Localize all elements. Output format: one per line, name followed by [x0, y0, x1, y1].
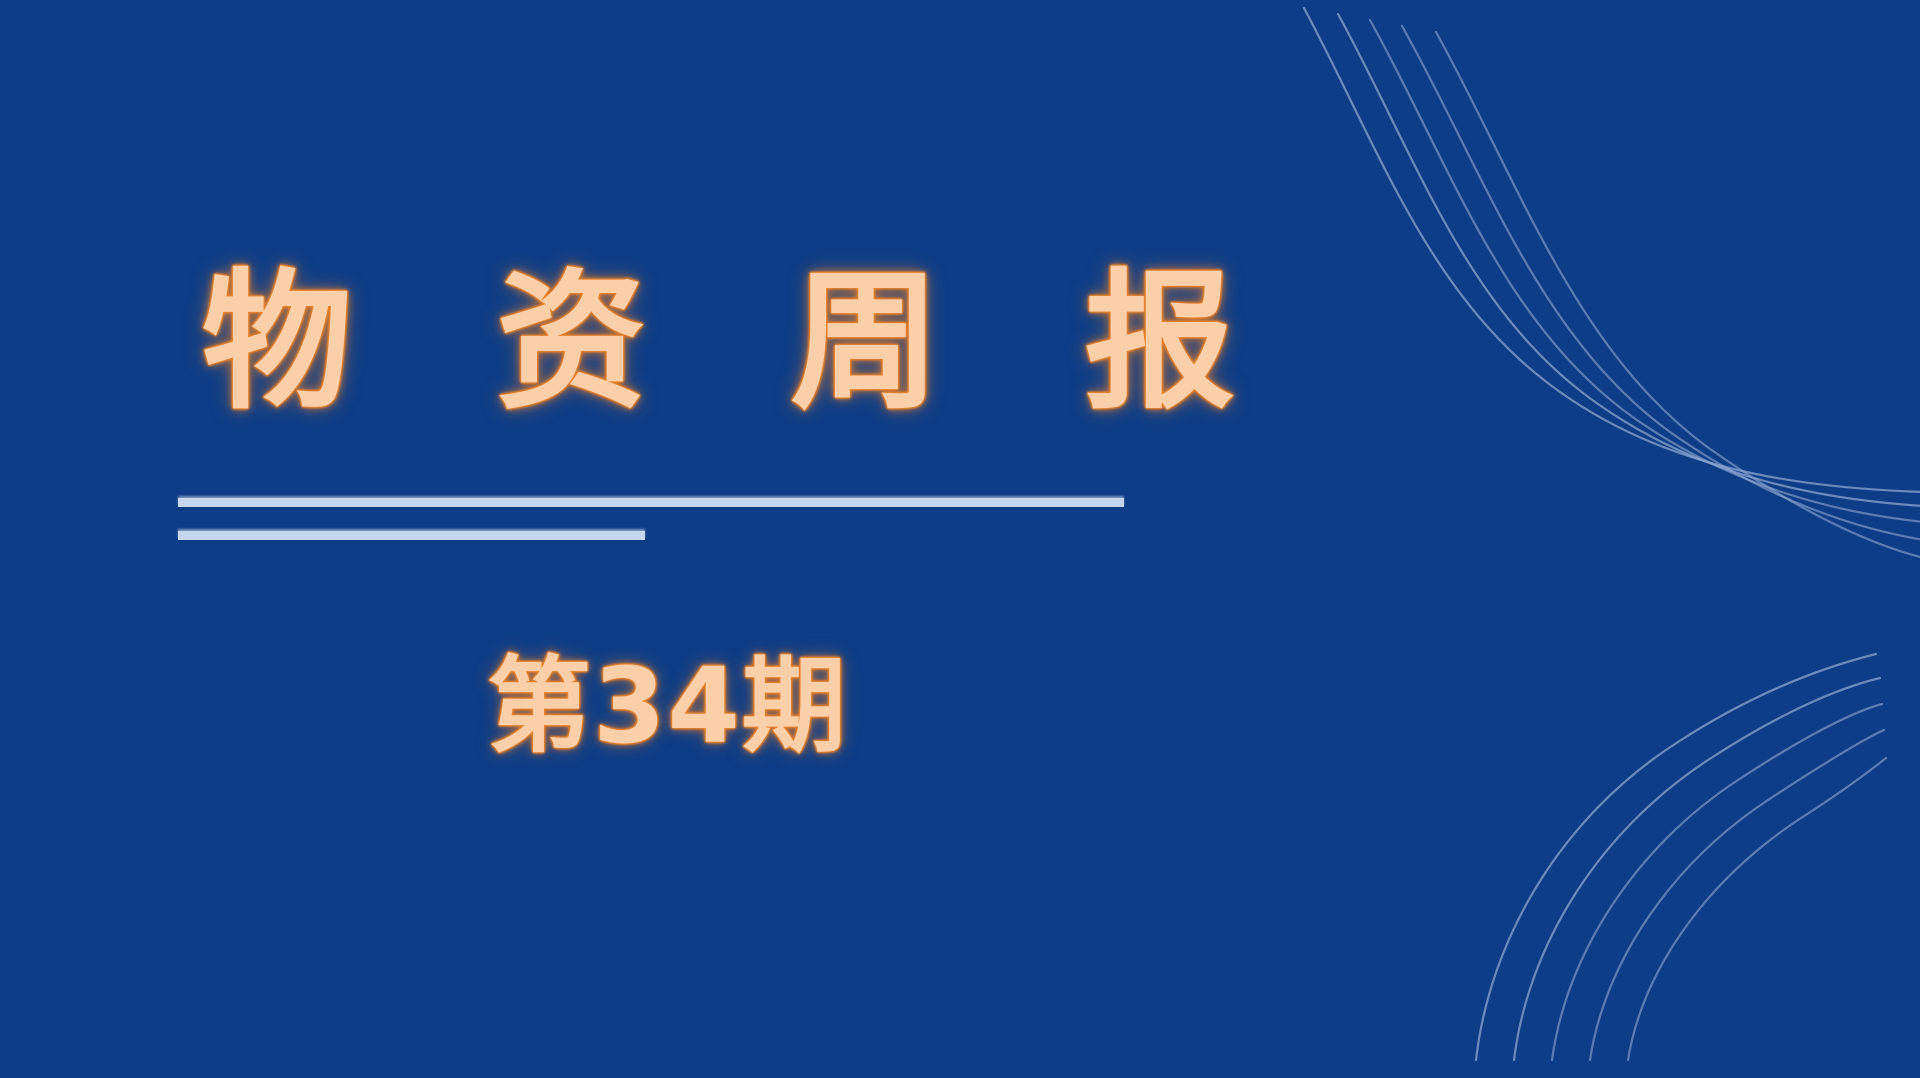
flowline-group-bottom-right — [1300, 608, 1920, 1078]
flowline-br-4 — [1590, 730, 1884, 1060]
flowline-br-5 — [1628, 758, 1886, 1060]
page-title: 物 资 周 报 — [178, 268, 1378, 418]
title-block: 物 资 周 报 — [178, 268, 1378, 418]
flowline-tr-4 — [1402, 26, 1920, 540]
issue-number-subtitle: 第34期 — [0, 648, 1335, 764]
presentation-cover-slide: 物 资 周 报 第34期 — [0, 0, 1920, 1078]
title-underline-long — [178, 498, 1124, 507]
flowline-br-3 — [1552, 704, 1882, 1060]
flowline-br-2 — [1514, 678, 1880, 1060]
flowline-tr-5 — [1436, 32, 1920, 558]
flowline-tr-2 — [1338, 14, 1920, 506]
flowline-tr-1 — [1304, 8, 1920, 492]
flowline-br-1 — [1476, 654, 1876, 1060]
decorative-flowlines-bottom-right — [1300, 608, 1920, 1078]
title-underline-short — [178, 531, 645, 540]
flowline-tr-3 — [1370, 20, 1920, 522]
